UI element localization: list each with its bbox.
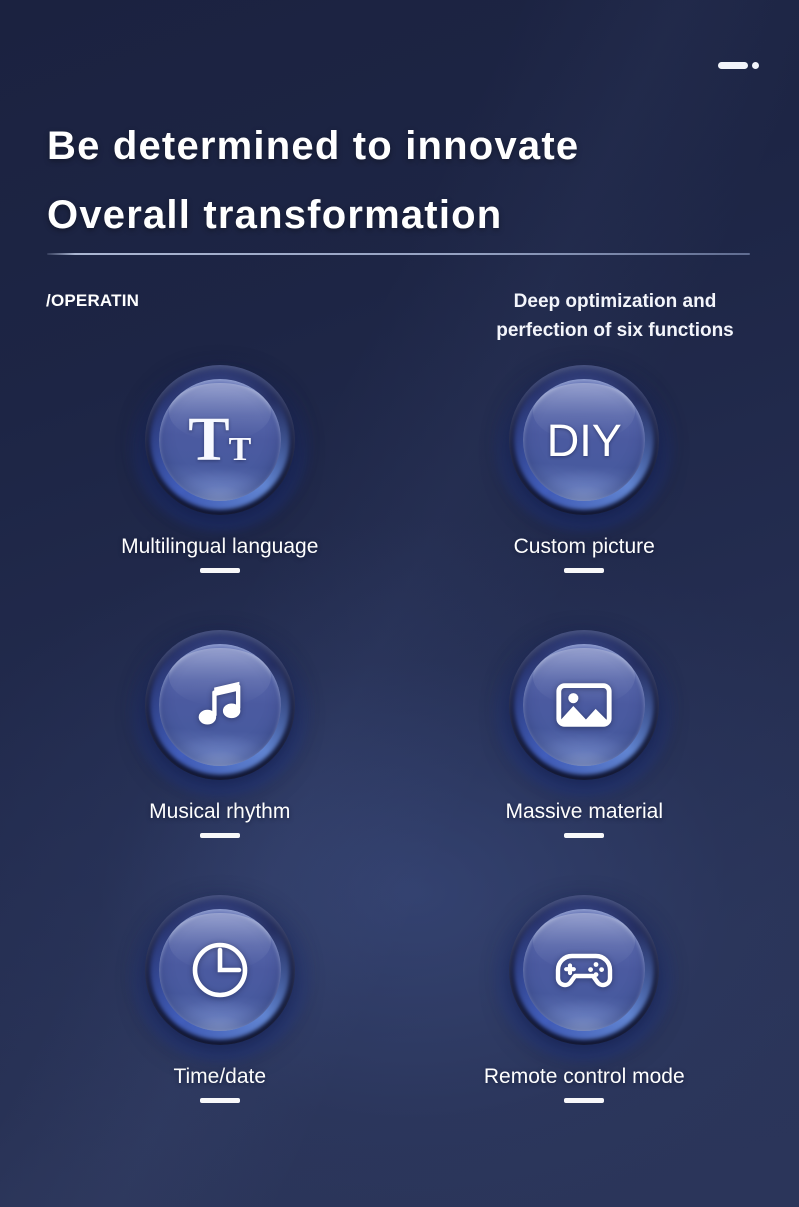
feature-label: Custom picture: [514, 535, 655, 559]
text-size-icon: TT: [145, 365, 295, 515]
clock-icon: [145, 895, 295, 1045]
feature-button-multilingual-language[interactable]: TT: [145, 365, 295, 515]
feature-label-underline: [564, 1098, 604, 1103]
feature-button-musical-rhythm[interactable]: [145, 630, 295, 780]
music-note-icon: [145, 630, 295, 780]
feature-item-custom-picture: DIY Custom picture: [400, 365, 799, 630]
page-title-line-2: Overall transformation: [47, 181, 757, 250]
text-size-icon-main: T: [188, 409, 227, 471]
feature-item-massive-material: Massive material: [400, 630, 799, 895]
feature-label: Remote control mode: [484, 1065, 685, 1089]
feature-item-musical-rhythm: Musical rhythm: [0, 630, 400, 895]
feature-label-underline: [564, 833, 604, 838]
photo-icon: [509, 630, 659, 780]
diy-icon: DIY: [509, 365, 659, 515]
feature-label-underline: [200, 1098, 240, 1103]
feature-label: Multilingual language: [121, 535, 318, 559]
feature-label: Musical rhythm: [149, 800, 290, 824]
feature-button-time-date[interactable]: [145, 895, 295, 1045]
text-size-icon-sub: T: [229, 433, 252, 467]
feature-label: Massive material: [505, 800, 663, 824]
feature-label-underline: [564, 568, 604, 573]
page-title-line-1: Be determined to innovate: [47, 112, 757, 181]
section-eyebrow: /OPERATIN: [46, 291, 139, 311]
section-subtitle-line-1: Deep optimization and: [445, 288, 785, 317]
feature-item-remote-control-mode: Remote control mode: [400, 895, 799, 1160]
diy-icon-text: DIY: [547, 418, 622, 463]
header-divider: [47, 253, 750, 255]
feature-label-underline: [200, 568, 240, 573]
bar-dot-icon: [718, 62, 759, 69]
feature-grid: TT Multilingual language DIY Custom pict…: [0, 365, 799, 1160]
promo-page: Be determined to innovate Overall transf…: [0, 0, 799, 1207]
feature-label: Time/date: [173, 1065, 266, 1089]
gamepad-icon: [509, 895, 659, 1045]
section-subtitle: Deep optimization and perfection of six …: [445, 288, 785, 346]
feature-item-time-date: Time/date: [0, 895, 400, 1160]
bar-dot-icon-dot: [752, 62, 759, 69]
feature-button-custom-picture[interactable]: DIY: [509, 365, 659, 515]
feature-button-massive-material[interactable]: [509, 630, 659, 780]
section-subtitle-line-2: perfection of six functions: [445, 317, 785, 346]
bar-dot-icon-bar: [718, 62, 748, 69]
feature-item-multilingual-language: TT Multilingual language: [0, 365, 400, 630]
feature-button-remote-control-mode[interactable]: [509, 895, 659, 1045]
page-title: Be determined to innovate Overall transf…: [47, 112, 757, 250]
feature-label-underline: [200, 833, 240, 838]
section-eyebrow-label: OPERATIN: [51, 291, 139, 310]
